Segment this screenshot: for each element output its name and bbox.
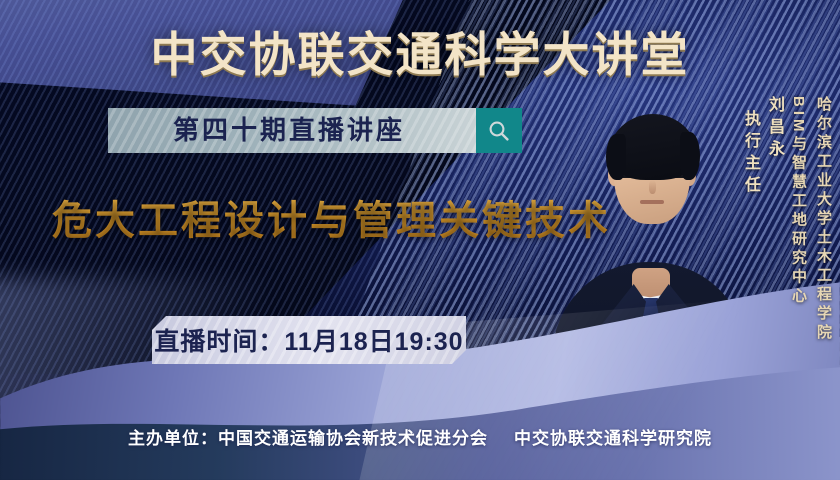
portrait-mouth — [640, 200, 664, 204]
lecture-title: 危大工程设计与管理关键技术 — [52, 188, 611, 246]
portrait-nose — [649, 180, 656, 194]
episode-label: 第四十期直播讲座 — [108, 108, 476, 153]
speaker-center-prefix: BIM — [790, 96, 807, 136]
speaker-credits: 哈尔滨工业大学土木工程学院 BIM与智慧工地研究中心 刘昌永 执行主任 — [738, 96, 834, 343]
search-icon-box[interactable] — [476, 108, 522, 153]
webinar-poster: 中交协联交通科学大讲堂 第四十期直播讲座 危大工程设计与管理关键技术 直播时间：… — [0, 0, 840, 480]
organizer-name: 中国交通运输协会新技术促进分会 — [218, 429, 488, 448]
speaker-role: 执行主任 — [738, 110, 762, 343]
portrait-hair-side-right — [680, 132, 700, 180]
speaker-name: 刘昌永 — [762, 96, 786, 343]
portrait-hair-side-left — [606, 134, 626, 180]
speaker-center-suffix: 与智慧工地研究中心 — [790, 136, 807, 307]
episode-banner: 第四十期直播讲座 — [108, 108, 522, 153]
footer-organizers: 主办单位：中国交通运输协会新技术促进分会中交协联交通科学研究院 — [0, 424, 840, 449]
episode-banner-plate: 第四十期直播讲座 — [108, 108, 476, 153]
broadcast-time-text: 直播时间：11月18日19:30 — [154, 322, 463, 358]
organizer-label: 主办单位： — [128, 429, 218, 448]
speaker-identity: 刘昌永 执行主任 — [738, 96, 786, 343]
speaker-affiliation: 哈尔滨工业大学土木工程学院 — [813, 96, 834, 343]
page-title: 中交协联交通科学大讲堂 — [0, 16, 840, 85]
co-organizer-name: 中交协联交通科学研究院 — [514, 429, 712, 448]
search-icon — [487, 119, 511, 143]
speaker-center: BIM与智慧工地研究中心 — [788, 96, 811, 343]
broadcast-time-banner: 直播时间：11月18日19:30 — [152, 316, 466, 364]
